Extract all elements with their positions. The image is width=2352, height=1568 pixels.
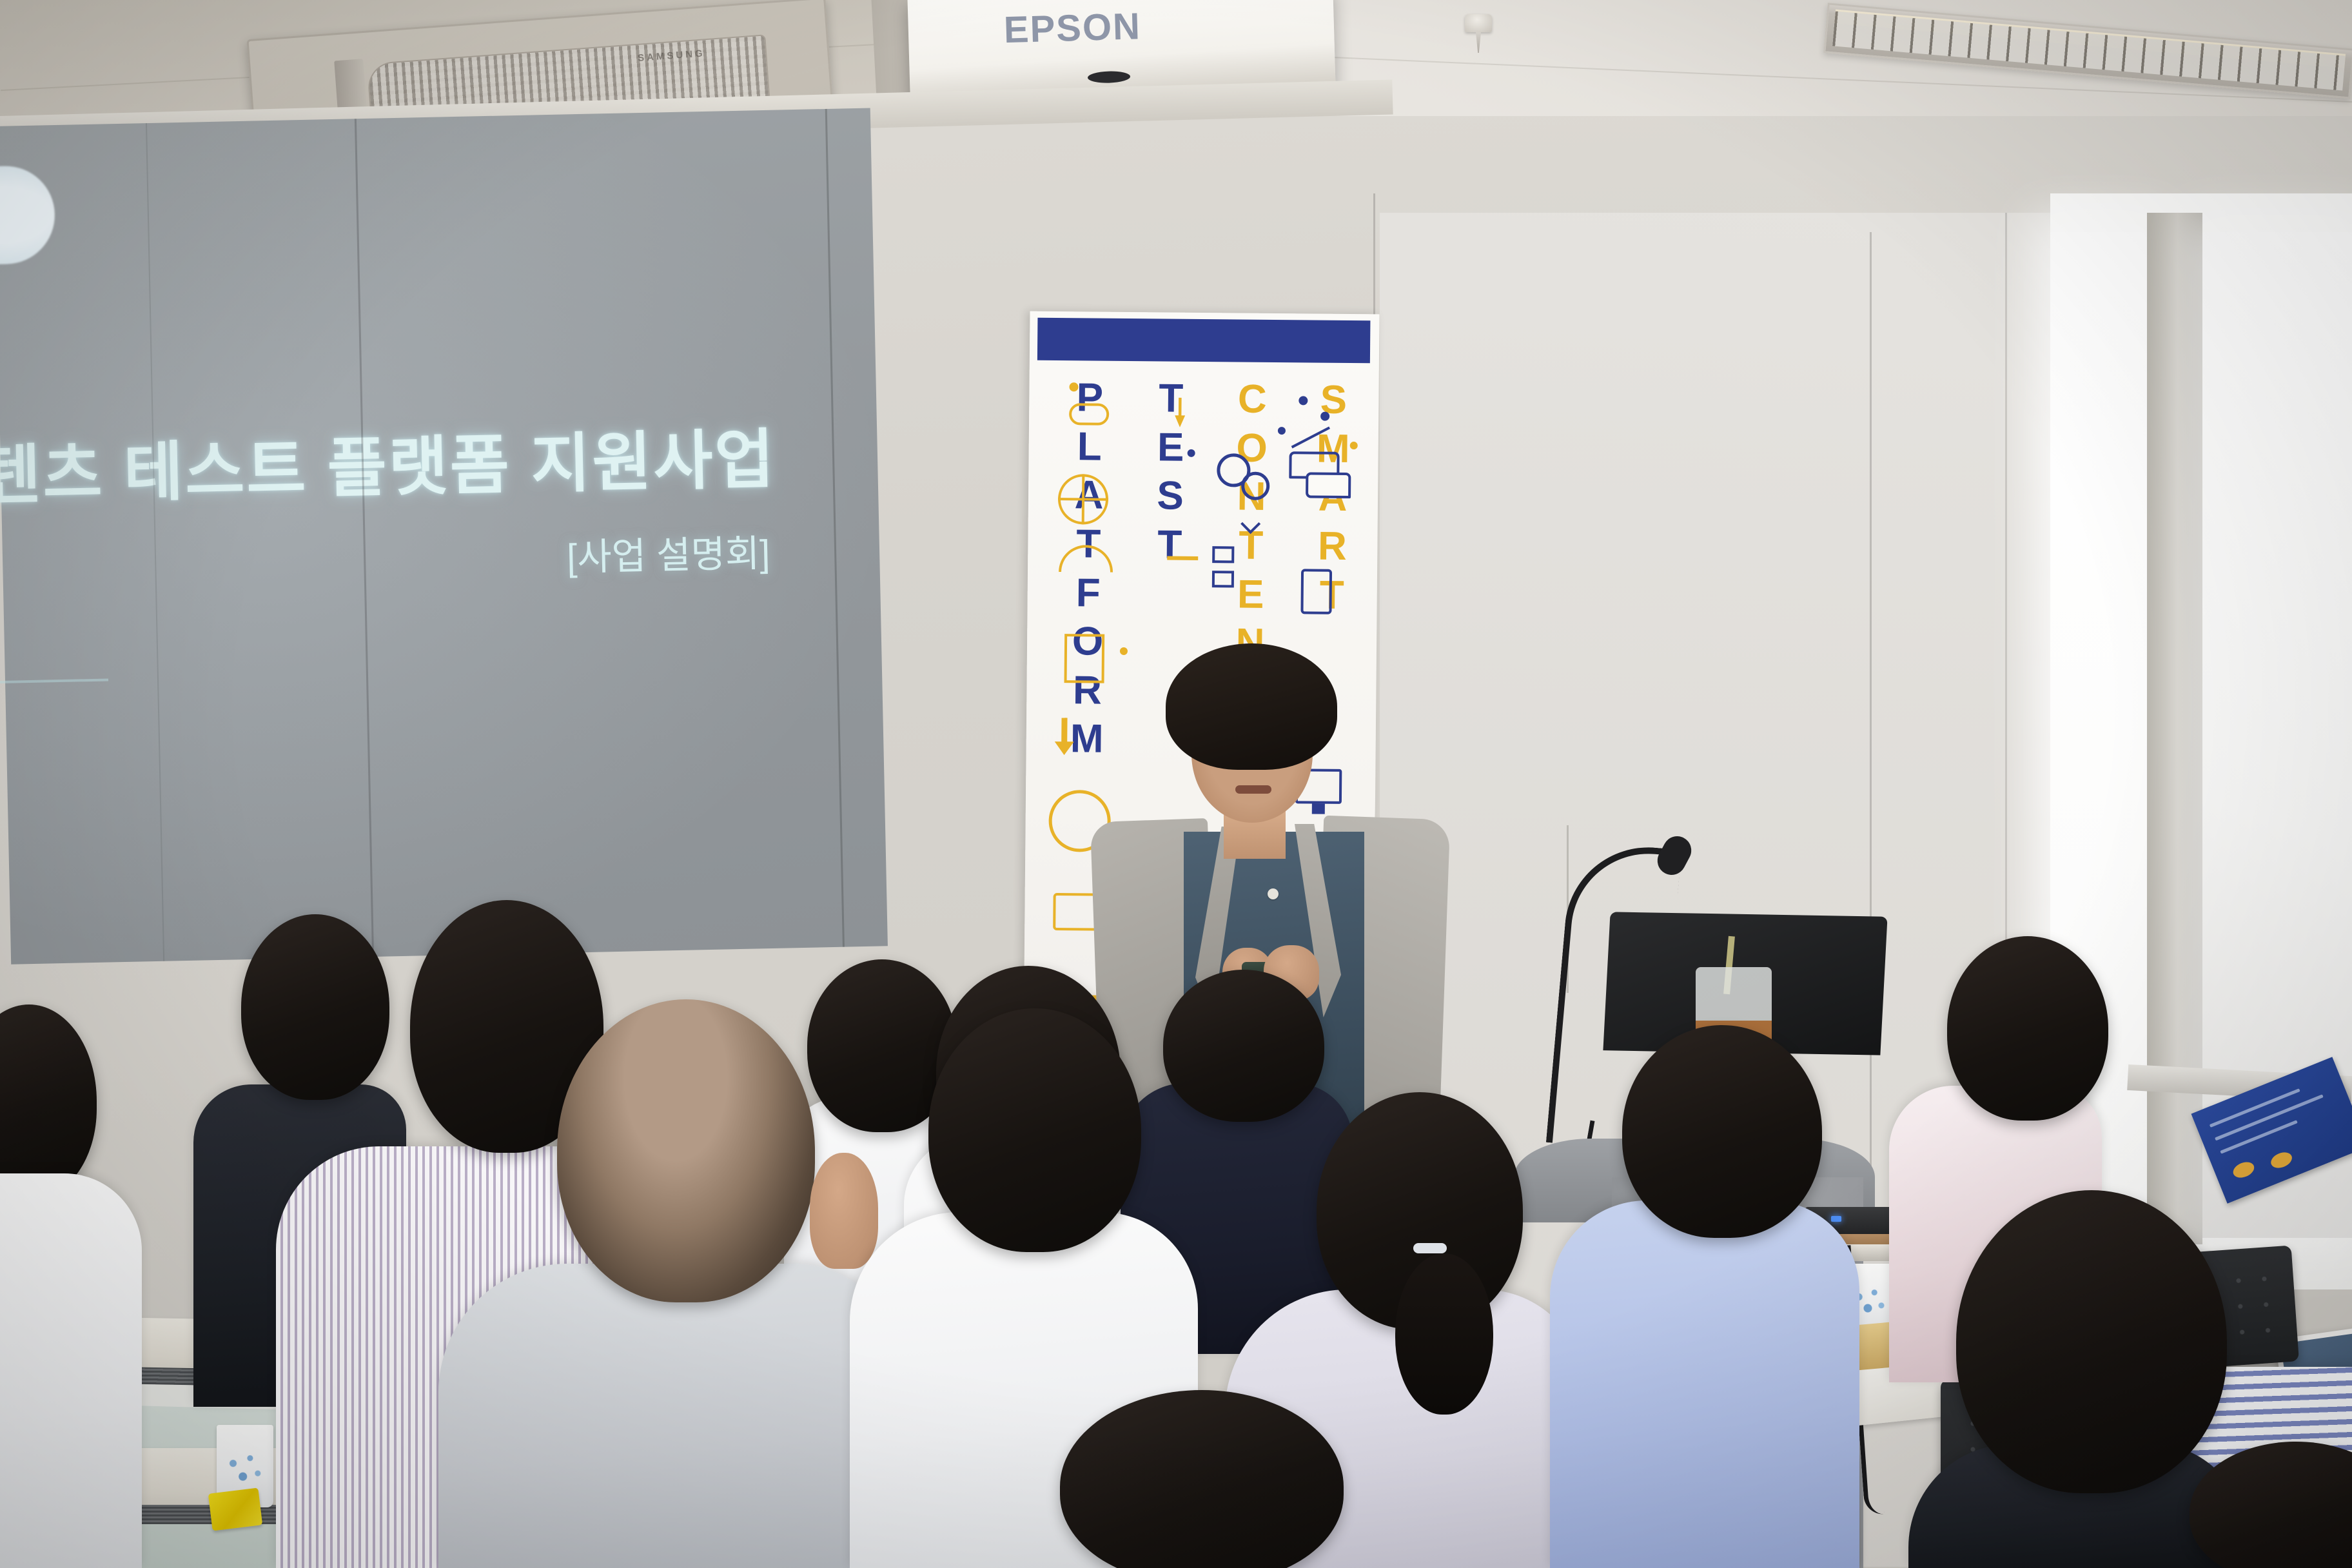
ponytail — [1395, 1253, 1493, 1415]
banner-letter: E — [1157, 423, 1184, 472]
attendee-hand — [810, 1153, 878, 1269]
attendee-head — [1622, 1025, 1822, 1238]
tablet-icon — [1300, 569, 1332, 614]
sprinkler-head-icon — [1465, 14, 1492, 32]
projector-lens-icon — [1088, 71, 1130, 84]
decorative-dot — [1278, 427, 1286, 435]
presenter-hair — [1166, 643, 1337, 770]
gear-icon — [1241, 472, 1269, 500]
decorative-dot — [1188, 449, 1195, 457]
decorative-dot — [1120, 647, 1128, 655]
attendee-head — [241, 914, 389, 1100]
slide-subtitle-text: [사업 설명회] — [566, 523, 770, 582]
device-power-led-icon — [1831, 1216, 1841, 1222]
banner-letter: E — [1237, 570, 1264, 619]
candy-wrapper — [208, 1487, 262, 1531]
attendee-torso — [438, 1264, 903, 1568]
attendee-head — [1956, 1190, 2227, 1493]
attendee-head — [1163, 970, 1324, 1122]
network-node-icon — [1298, 396, 1308, 405]
banner-letter: R — [1318, 522, 1347, 571]
banner-letter: C — [1238, 375, 1267, 424]
attendee-head — [1947, 936, 2108, 1121]
chat-bubble-icon — [1306, 472, 1351, 498]
clipboard-icon — [1064, 634, 1105, 683]
attendee-torso — [0, 1173, 142, 1568]
decorative-dot — [1350, 442, 1358, 449]
decorative-dot — [1069, 382, 1078, 391]
dash-icon — [1167, 556, 1198, 560]
banner-letter: T — [1157, 520, 1182, 569]
play-button-icon — [1212, 571, 1234, 587]
attendee-torso — [1550, 1200, 1859, 1568]
attendee-head — [928, 1008, 1141, 1252]
banner-letter: M — [1070, 715, 1104, 764]
mouse-icon — [1069, 403, 1109, 426]
projection-screen: 원 ency 텐츠 테스트 플랫폼 지원사업 [사업 설명회] — [0, 108, 888, 965]
hair-tie — [1413, 1243, 1447, 1253]
monitor-stand-icon — [1312, 804, 1325, 814]
banner-top-band — [1037, 318, 1371, 364]
slide-title-text: 텐츠 테스트 플랫폼 지원사업 — [0, 407, 777, 517]
globe-icon — [1058, 474, 1109, 525]
banner-letter: S — [1157, 472, 1184, 521]
pause-button-icon — [1212, 546, 1234, 563]
attendee-head — [557, 999, 815, 1302]
network-node-icon — [1320, 412, 1329, 421]
photo-scene: SAMSUNG EPSON — [0, 0, 2352, 1568]
banner-letter: L — [1077, 422, 1102, 471]
banner-letter: F — [1075, 569, 1101, 618]
epson-brand-label: EPSON — [1003, 5, 1142, 52]
